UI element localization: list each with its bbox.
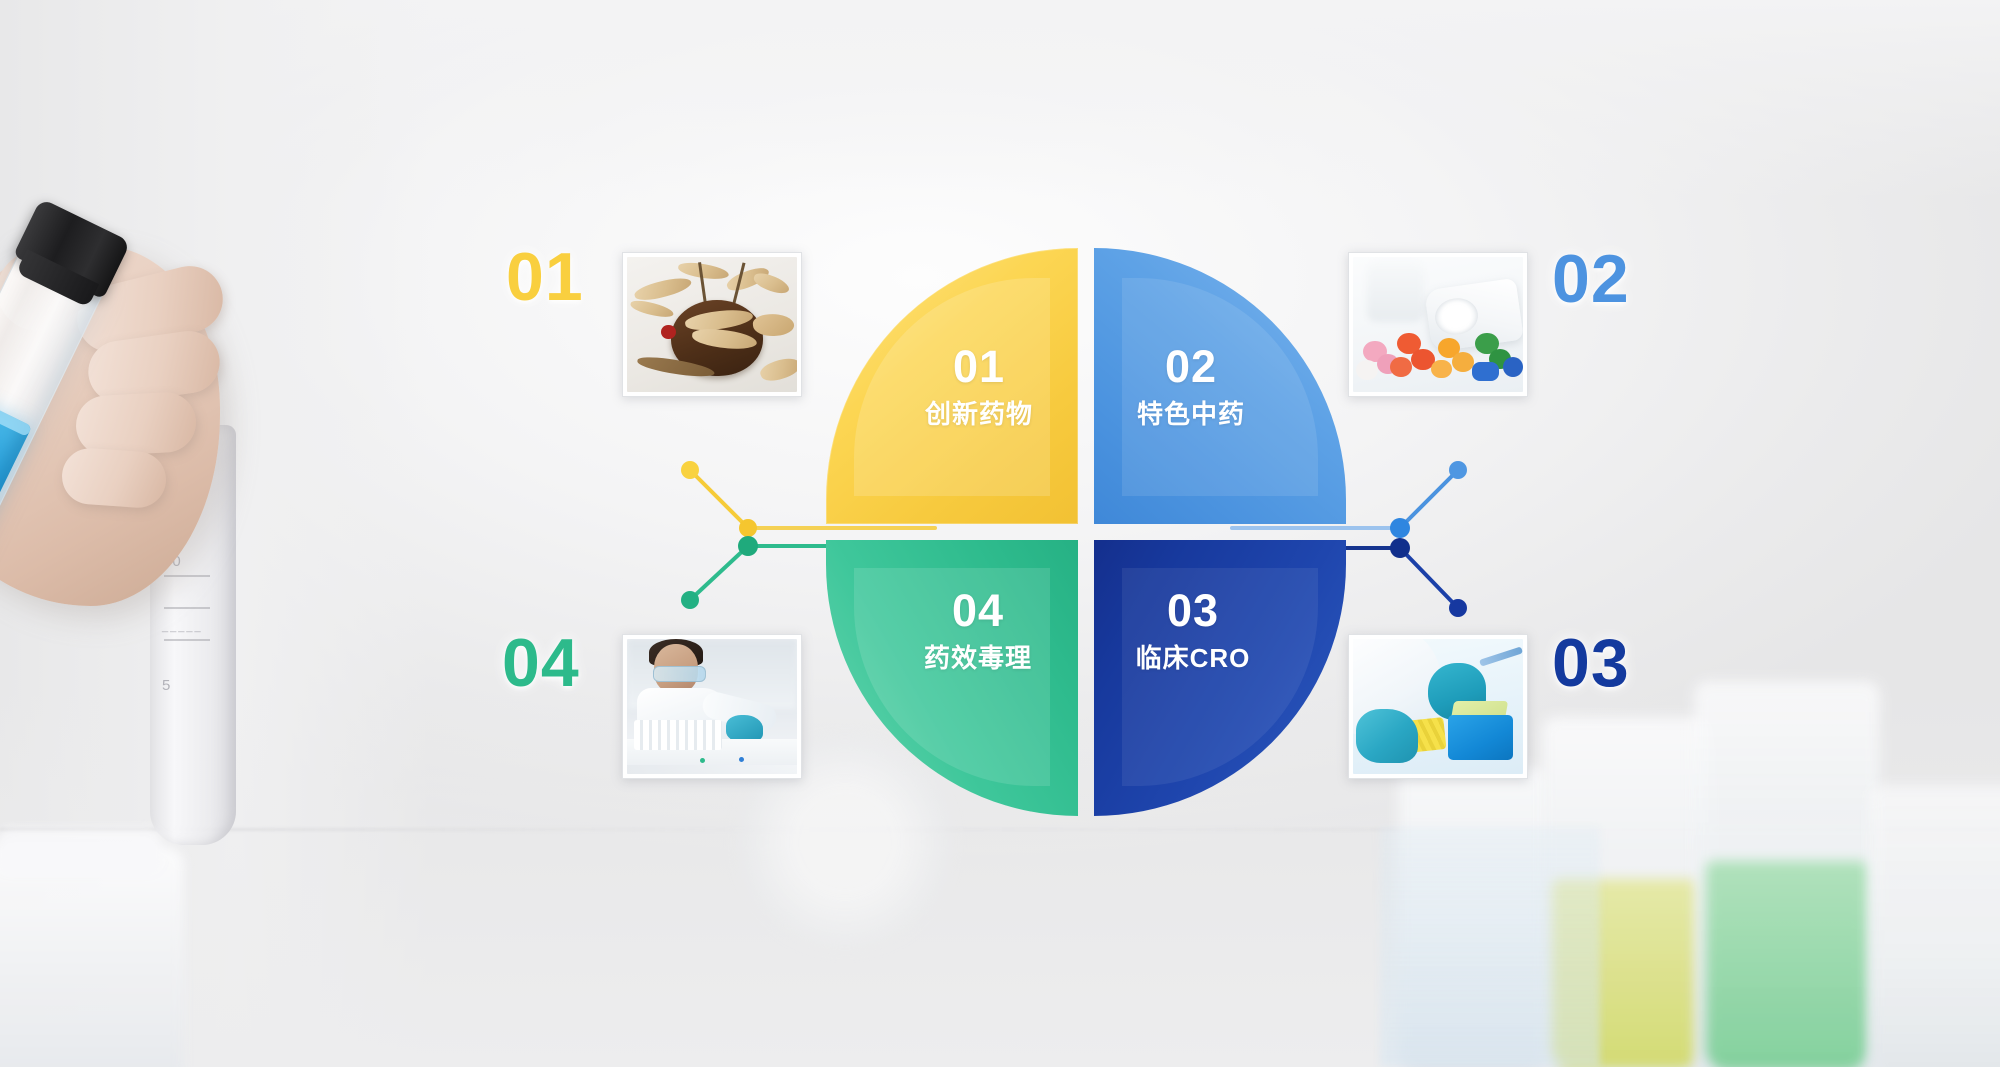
quadrant-02-number: 02 <box>1094 344 1288 389</box>
scientist-photo <box>627 639 797 774</box>
beaker <box>1870 785 2000 1067</box>
beaker <box>1398 767 1548 1067</box>
test-tube-cap <box>13 198 131 299</box>
quadrant-01-number: 01 <box>880 344 1078 389</box>
herbs-photo <box>627 257 797 392</box>
test-tube-glass <box>0 238 111 601</box>
quadrant-04[interactable]: 04 药效毒理 <box>826 540 1078 816</box>
bench-edge-line <box>0 828 2000 831</box>
background-test-tube: 10 _____ 5 <box>150 425 236 845</box>
quadrant-02-label: 特色中药 <box>1094 401 1288 427</box>
quadrant-04-label: 药效毒理 <box>878 645 1078 671</box>
background-top-gradient <box>0 0 2000 200</box>
pills-photo <box>1353 257 1523 392</box>
held-test-tube <box>0 200 127 600</box>
finger <box>70 259 230 359</box>
clinical-lab-photo <box>1353 639 1523 774</box>
thumbnail-02-pills[interactable] <box>1348 252 1528 397</box>
thumbnail-03-clinical-lab[interactable] <box>1348 634 1528 779</box>
quadrant-03-number: 03 <box>1094 588 1292 633</box>
outer-number-03: 03 <box>1552 624 1630 702</box>
laboratory-glassware-photo <box>1380 507 2000 1067</box>
thumbnail-04-scientist[interactable] <box>622 634 802 779</box>
quadrant-02[interactable]: 02 特色中药 <box>1094 248 1346 524</box>
foreground-jar <box>0 847 184 1067</box>
beaker <box>1694 681 1880 1067</box>
finger <box>75 391 198 457</box>
outer-number-04: 04 <box>502 624 580 702</box>
quadrant-04-number: 04 <box>878 588 1078 633</box>
outer-number-01: 01 <box>506 238 584 316</box>
finger <box>60 446 168 509</box>
quadrant-03[interactable]: 03 临床CRO <box>1094 540 1346 816</box>
hand <box>0 246 220 606</box>
blue-liquid <box>0 390 32 591</box>
hand-holding-test-tube-photo: 10 _____ 5 <box>0 210 500 850</box>
thumb <box>0 214 124 346</box>
finger <box>84 327 223 407</box>
outer-number-02: 02 <box>1552 240 1630 318</box>
beaker <box>1542 717 1710 1067</box>
background-left-gradient <box>0 0 430 1067</box>
thumbnail-01-herbs[interactable] <box>622 252 802 397</box>
foreground-glass-panel <box>1380 827 1600 1067</box>
screenshot-canvas: 10 _____ 5 <box>0 0 2000 1067</box>
quadrant-03-label: 临床CRO <box>1094 645 1292 671</box>
quadrant-diagram: 01 创新药物 02 特色中药 03 临床CRO 04 <box>826 248 1346 816</box>
quadrant-01-label: 创新药物 <box>880 401 1078 427</box>
quadrant-01[interactable]: 01 创新药物 <box>826 248 1078 524</box>
